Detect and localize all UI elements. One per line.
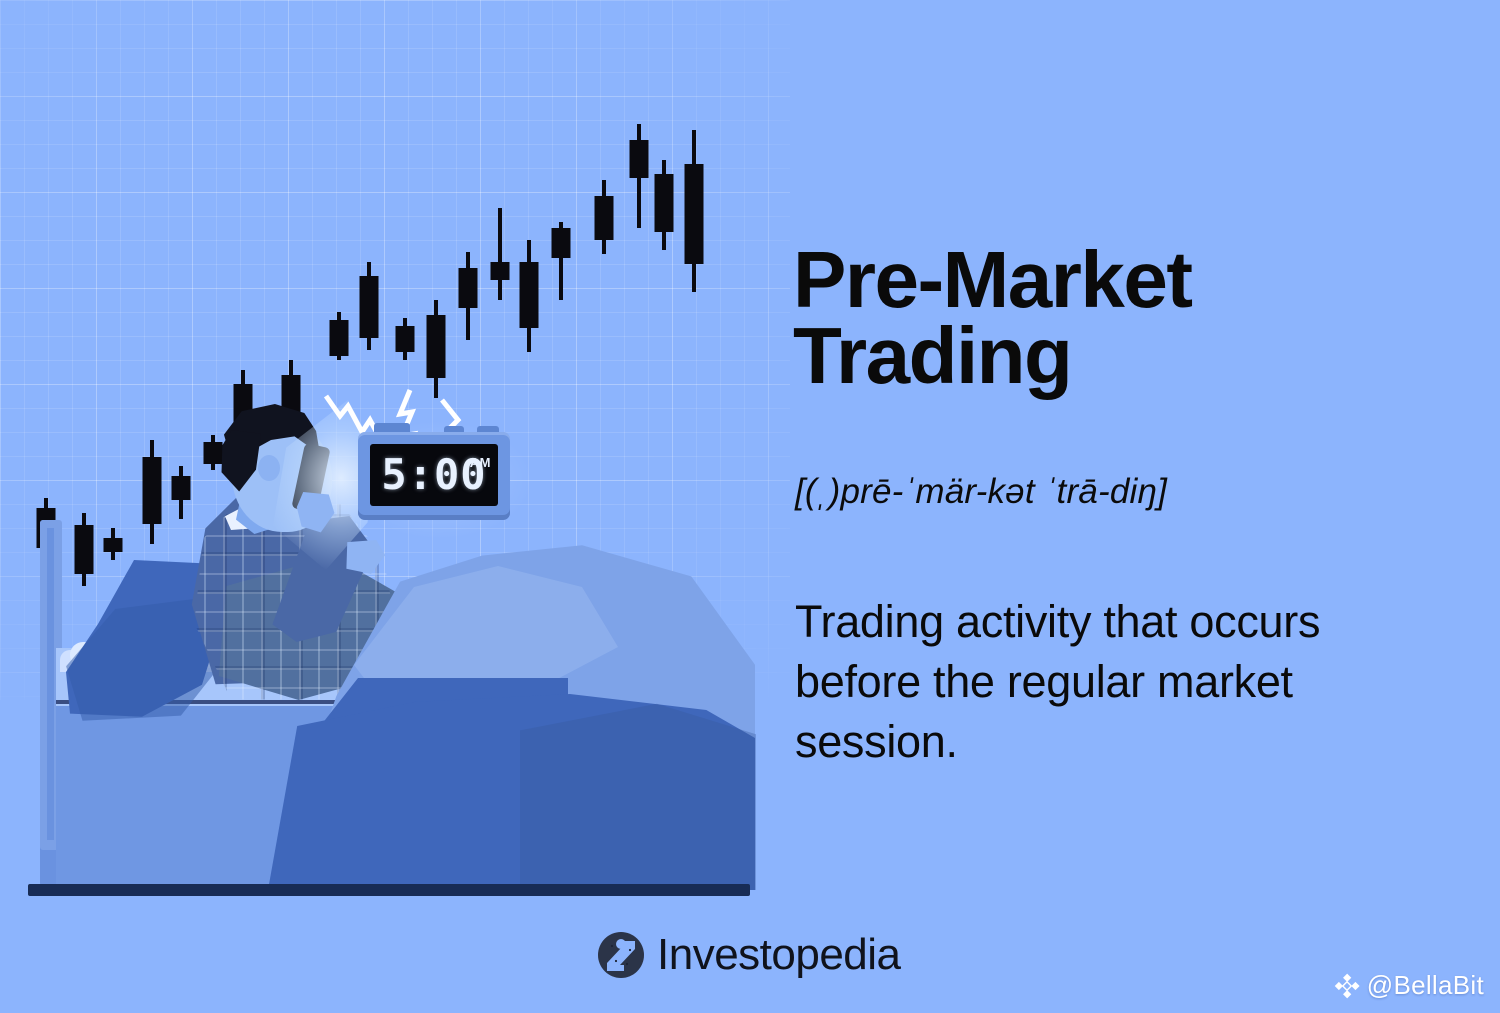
investopedia-lightning-circle-icon (597, 931, 645, 979)
binance-diamond-icon (1334, 973, 1360, 999)
watermark: @BellaBit (1334, 970, 1484, 1001)
investopedia-logo[interactable]: Investopedia (597, 931, 901, 979)
bedroom-illustration: 5:00 AM (0, 0, 790, 1013)
text-column: Pre-Market Trading [(ˌ)prē-ˈmär-kət ˈtrā… (793, 0, 1500, 1013)
bed-headboard-inner (47, 528, 54, 840)
title-line-2: Trading (793, 311, 1071, 400)
duvet-shadow (520, 700, 756, 890)
pronunciation-text: [(ˌ)prē-ˈmär-kət ˈtrā-diŋ] (795, 472, 1167, 512)
watermark-handle: @BellaBit (1367, 970, 1484, 1001)
investopedia-wordmark: Investopedia (657, 931, 901, 979)
floor-line (28, 884, 750, 896)
page-title: Pre-Market Trading (793, 242, 1493, 394)
infographic-canvas: 5:00 AM Pre-Market Trading [(ˌ)prē-ˈmär-… (0, 0, 1500, 1013)
clock-display: 5:00 AM (370, 444, 498, 506)
person-ear (258, 455, 280, 481)
definition-text: Trading activity that occurs before the … (795, 592, 1405, 772)
clock-meridiem-label: AM (470, 455, 491, 470)
